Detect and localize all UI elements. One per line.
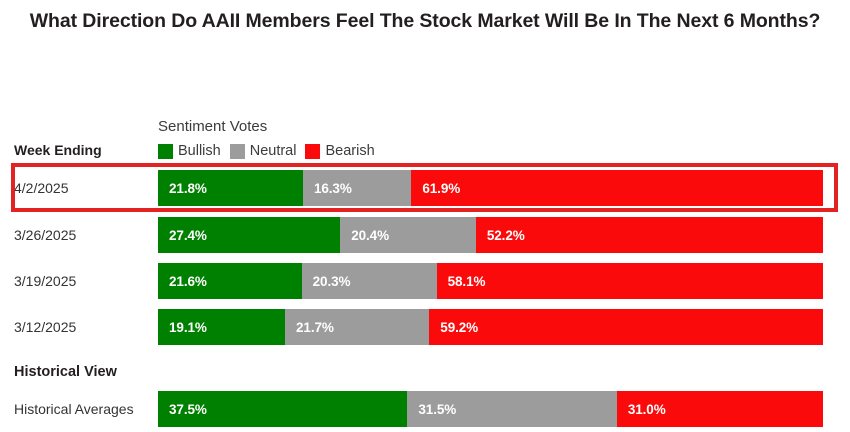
section-heading-historical: Historical View	[14, 364, 117, 380]
legend-item-label: Bearish	[325, 143, 374, 159]
stacked-bar: 21.6%20.3%58.1%	[158, 263, 823, 299]
legend-item-label: Neutral	[250, 143, 297, 159]
chart-row: 4/2/202521.8%16.3%61.9%	[0, 170, 850, 206]
bar-segment-neutral: 21.7%	[285, 309, 429, 345]
row-label: Historical Averages	[14, 391, 134, 427]
bar-segment-bearish: 61.9%	[411, 170, 823, 206]
legend-swatch-bullish-icon	[158, 144, 173, 159]
bar-segment-bearish: 58.1%	[437, 263, 823, 299]
row-label: 3/12/2025	[14, 309, 76, 345]
column-header-week-ending: Week Ending	[14, 142, 102, 158]
legend-item-neutral: Neutral	[230, 143, 297, 159]
stacked-bar: 27.4%20.4%52.2%	[158, 217, 823, 253]
bar-segment-neutral: 20.3%	[302, 263, 437, 299]
bar-segment-bullish: 21.6%	[158, 263, 302, 299]
bar-segment-bearish: 31.0%	[617, 391, 823, 427]
bar-segment-bullish: 19.1%	[158, 309, 285, 345]
row-label: 4/2/2025	[14, 170, 69, 206]
row-label: 3/26/2025	[14, 217, 76, 253]
bar-segment-value: 31.0%	[617, 402, 666, 417]
bar-segment-value: 37.5%	[158, 402, 207, 417]
chart-row: 3/26/202527.4%20.4%52.2%	[0, 217, 850, 253]
bar-segment-neutral: 20.4%	[340, 217, 476, 253]
chart-row: Historical Averages37.5%31.5%31.0%	[0, 391, 850, 427]
legend: BullishNeutralBearish	[158, 143, 375, 159]
legend-item-bearish: Bearish	[305, 143, 374, 159]
bar-segment-bearish: 59.2%	[429, 309, 823, 345]
bar-segment-value: 16.3%	[303, 181, 352, 196]
bar-segment-value: 31.5%	[407, 402, 456, 417]
bar-segment-value: 52.2%	[476, 228, 525, 243]
bar-segment-bearish: 52.2%	[476, 217, 823, 253]
legend-item-label: Bullish	[178, 143, 221, 159]
bar-segment-value: 21.7%	[285, 320, 334, 335]
bar-segment-neutral: 31.5%	[407, 391, 616, 427]
chart-row: 3/12/202519.1%21.7%59.2%	[0, 309, 850, 345]
bar-segment-neutral: 16.3%	[303, 170, 411, 206]
bar-segment-bullish: 21.8%	[158, 170, 303, 206]
bar-segment-value: 21.8%	[158, 181, 207, 196]
bar-segment-value: 21.6%	[158, 274, 207, 289]
bar-segment-value: 61.9%	[411, 181, 460, 196]
chart-row: 3/19/202521.6%20.3%58.1%	[0, 263, 850, 299]
bar-segment-bullish: 27.4%	[158, 217, 340, 253]
bar-segment-value: 20.3%	[302, 274, 351, 289]
bar-segment-value: 58.1%	[437, 274, 486, 289]
legend-swatch-neutral-icon	[230, 144, 245, 159]
bar-segment-value: 27.4%	[158, 228, 207, 243]
bar-segment-value: 19.1%	[158, 320, 207, 335]
legend-swatch-bearish-icon	[305, 144, 320, 159]
bar-segment-value: 59.2%	[429, 320, 478, 335]
legend-title: Sentiment Votes	[158, 118, 267, 135]
stacked-bar: 37.5%31.5%31.0%	[158, 391, 823, 427]
bar-segment-value: 20.4%	[340, 228, 389, 243]
legend-item-bullish: Bullish	[158, 143, 221, 159]
page-title: What Direction Do AAII Members Feel The …	[0, 8, 850, 36]
stacked-bar: 21.8%16.3%61.9%	[158, 170, 823, 206]
bar-segment-bullish: 37.5%	[158, 391, 407, 427]
stacked-bar: 19.1%21.7%59.2%	[158, 309, 823, 345]
row-label: 3/19/2025	[14, 263, 76, 299]
